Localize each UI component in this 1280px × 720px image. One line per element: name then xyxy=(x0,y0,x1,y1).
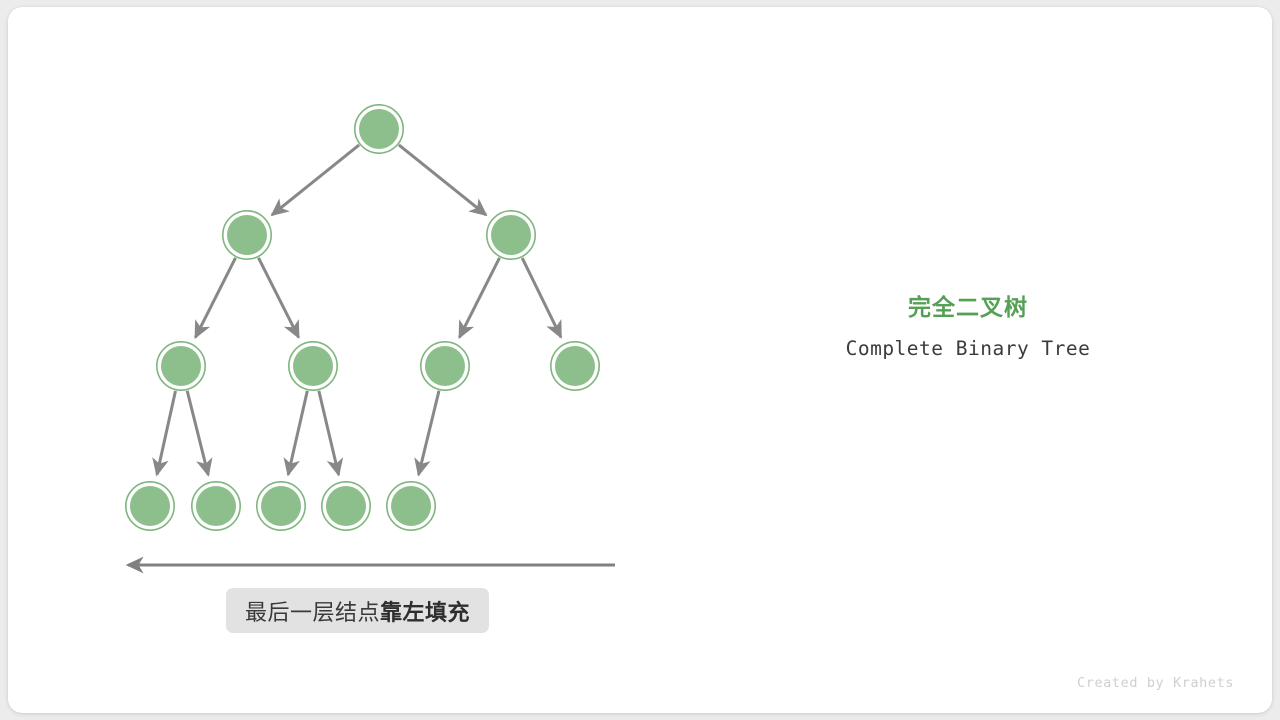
tree-node-fill xyxy=(555,346,595,386)
tree-node-fill xyxy=(425,346,465,386)
tree-edge xyxy=(399,145,486,215)
tree-node xyxy=(355,105,403,153)
tree-node-fill xyxy=(261,486,301,526)
tree-node-fill xyxy=(391,486,431,526)
tree-edge xyxy=(157,391,176,475)
tree-node xyxy=(192,482,240,530)
annotation-text-bold: 靠左填充 xyxy=(380,600,470,625)
tree-edge xyxy=(272,145,359,215)
tree-node xyxy=(257,482,305,530)
annotation-text: 最后一层结点靠左填充 xyxy=(245,595,470,627)
tree-edge xyxy=(319,391,339,475)
tree-node-fill xyxy=(161,346,201,386)
diagram-subtitle: Complete Binary Tree xyxy=(768,337,1168,360)
tree-node xyxy=(387,482,435,530)
tree-edge xyxy=(288,391,307,475)
tree-node-fill xyxy=(130,486,170,526)
annotation-text-normal: 最后一层结点 xyxy=(245,600,380,625)
tree-node xyxy=(126,482,174,530)
tree-node xyxy=(157,342,205,390)
tree-node xyxy=(223,211,271,259)
tree-node xyxy=(551,342,599,390)
tree-node-fill xyxy=(196,486,236,526)
tree-node xyxy=(421,342,469,390)
tree-node-fill xyxy=(359,109,399,149)
tree-edge xyxy=(187,391,208,475)
tree-edge xyxy=(459,258,499,338)
credit-label: Created by Krahets xyxy=(1077,675,1234,691)
tree-node-layer xyxy=(126,105,599,530)
tree-node-fill xyxy=(293,346,333,386)
diagram-title: 完全二叉树 xyxy=(768,292,1168,323)
tree-edge xyxy=(522,258,561,337)
tree-node-fill xyxy=(326,486,366,526)
tree-edge-layer xyxy=(157,145,561,475)
tree-node-fill xyxy=(491,215,531,255)
tree-edge xyxy=(195,258,235,338)
caption-block: 完全二叉树 Complete Binary Tree xyxy=(768,292,1168,360)
annotation-pill: 最后一层结点靠左填充 xyxy=(226,588,489,633)
tree-edge xyxy=(258,258,298,338)
tree-node-fill xyxy=(227,215,267,255)
tree-node xyxy=(322,482,370,530)
screenshot-stage: 完全二叉树 Complete Binary Tree 最后一层结点靠左填充 Cr… xyxy=(0,0,1280,720)
tree-node xyxy=(289,342,337,390)
tree-node xyxy=(487,211,535,259)
tree-edge xyxy=(419,391,439,475)
